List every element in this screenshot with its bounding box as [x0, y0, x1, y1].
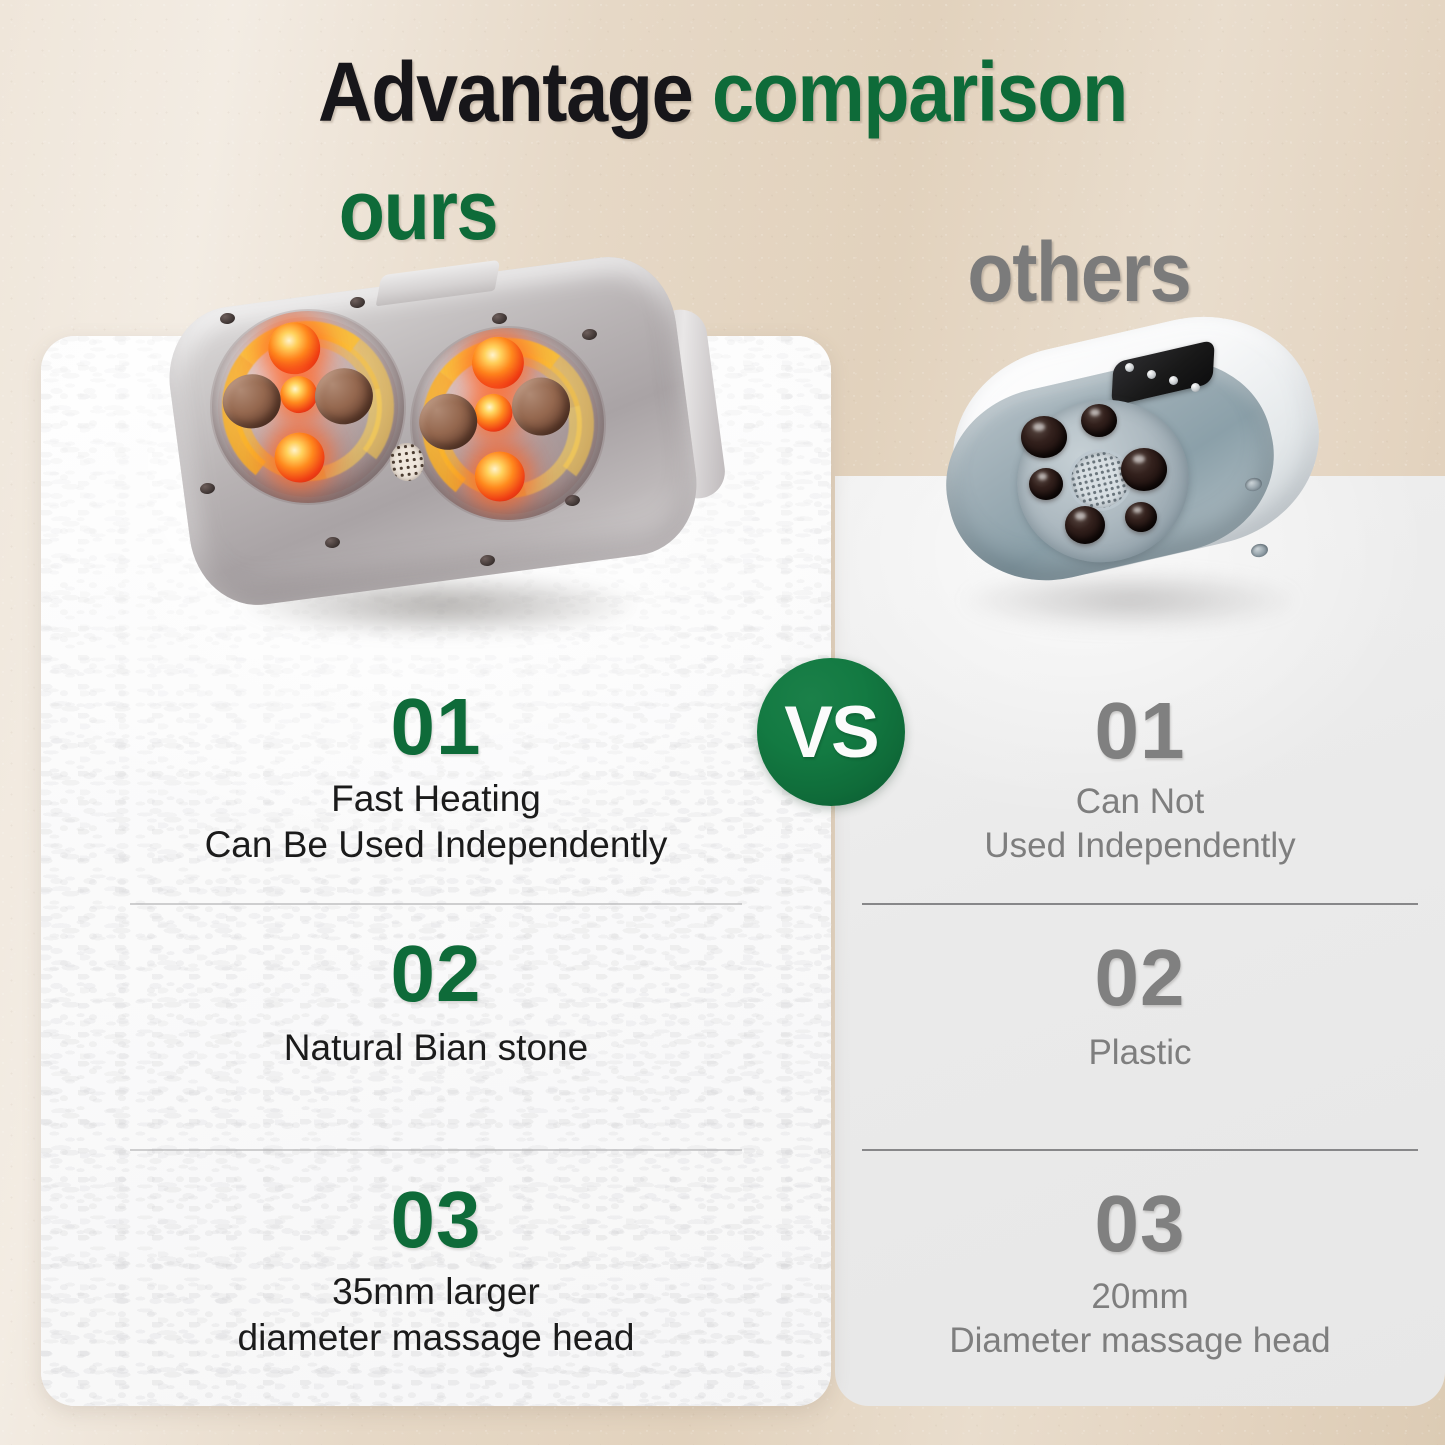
- screw-icon: [491, 312, 507, 325]
- feature-number: 01: [835, 690, 1445, 772]
- feature-text: Natural Bian stone: [41, 1025, 831, 1072]
- feature-list-ours: 01 Fast Heating Can Be Used Independentl…: [41, 660, 831, 1362]
- feature-number: 03: [41, 1179, 831, 1261]
- feature-number: 01: [41, 686, 831, 768]
- page-title-comparison: comparison: [712, 45, 1127, 139]
- plastic-node-icon: [1081, 404, 1117, 437]
- feature-text: Fast Heating Can Be Used Independently: [41, 776, 831, 869]
- column-label-ours: ours: [339, 168, 497, 252]
- vs-badge-label: VS: [784, 696, 877, 769]
- feature-text: Can Not Used Independently: [835, 780, 1445, 868]
- plastic-node-icon: [1021, 416, 1067, 458]
- control-button-icon: [1191, 383, 1200, 392]
- feature-text: Plastic: [835, 1031, 1445, 1075]
- control-button-icon: [1125, 363, 1134, 372]
- feature-item: 01 Can Not Used Independently: [835, 660, 1445, 903]
- page-title-advantage: Advantage: [318, 45, 712, 139]
- advantage-comparison-poster: Advantage comparison ours others: [0, 0, 1445, 1445]
- feature-text: 20mm Diameter massage head: [835, 1275, 1445, 1363]
- control-button-icon: [1169, 376, 1178, 385]
- feature-item: 03 20mm Diameter massage head: [835, 1151, 1445, 1363]
- feature-text: 35mm larger diameter massage head: [41, 1269, 831, 1362]
- feature-item: 01 Fast Heating Can Be Used Independentl…: [41, 660, 831, 903]
- screw-icon: [349, 296, 365, 309]
- feature-number: 02: [835, 937, 1445, 1019]
- column-label-others: others: [967, 230, 1190, 314]
- massager-top-tab: [376, 260, 501, 307]
- screw-icon: [219, 312, 235, 325]
- feature-item: 03 35mm larger diameter massage head: [41, 1151, 831, 1362]
- feature-number: 02: [41, 933, 831, 1015]
- page-title: Advantage comparison: [72, 52, 1373, 133]
- feature-list-others: 01 Can Not Used Independently 02 Plastic…: [835, 660, 1445, 1363]
- control-button-icon: [1147, 370, 1156, 379]
- control-panel[interactable]: [1111, 339, 1215, 406]
- feature-number: 03: [835, 1183, 1445, 1265]
- feature-item: 02 Plastic: [835, 905, 1445, 1149]
- feature-item: 02 Natural Bian stone: [41, 905, 831, 1149]
- vs-badge: VS: [757, 658, 905, 806]
